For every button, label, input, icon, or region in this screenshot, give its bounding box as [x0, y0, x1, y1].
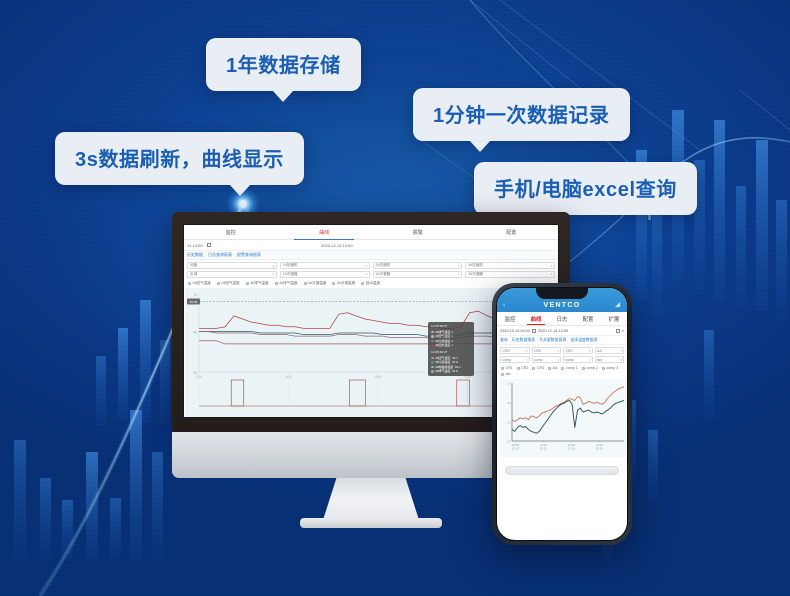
chevron-left-icon[interactable]: ‹ — [503, 302, 505, 309]
quick-link-temp-table[interactable]: 连续温度数据表 — [570, 337, 597, 343]
calendar-icon[interactable] — [207, 243, 211, 247]
quick-link-history[interactable]: 历史数据 — [187, 252, 203, 258]
x-tick-label: 12-13 — [512, 447, 520, 451]
radio-icon[interactable] — [361, 282, 364, 285]
select-compressor-2[interactable]: 2#压缩机 — [373, 262, 463, 269]
y-tick-label: 31 — [507, 382, 511, 386]
series-toggle[interactable]: AA — [548, 366, 557, 370]
phone-select-fan[interactable]: fan — [595, 356, 625, 363]
date-to-value: 2020-12-14 13:59 — [538, 329, 568, 333]
series-toggle[interactable]: CR1 — [501, 366, 513, 370]
tooltip-label: 4#回水温度 1 — [435, 343, 453, 348]
phone-tab-monitoring[interactable]: 监控 — [497, 312, 523, 325]
tooltip-row: 5#排气温度54.8 — [431, 369, 471, 374]
select-condenser-4[interactable]: 4#冷凝器 — [465, 271, 555, 278]
callout-text: 1年数据存储 — [226, 55, 341, 77]
callout-text: 手机/电脑excel查询 — [494, 179, 677, 201]
select-value: comp — [534, 358, 543, 362]
series-toggle[interactable]: comp 2 — [582, 366, 598, 370]
quick-link-log-report[interactable]: 日志查询报表 — [208, 252, 232, 258]
select-value: 4#压缩机 — [468, 263, 483, 268]
phone-tab-extension[interactable]: 扩展 — [601, 312, 627, 325]
select-value: comp — [503, 358, 512, 362]
series-label: 4#排气温度 — [279, 281, 297, 286]
tab-config[interactable]: 配置 — [465, 225, 559, 239]
select-device[interactable]: 设备 — [187, 262, 277, 269]
series-toggle[interactable]: comp 1 — [561, 366, 577, 370]
radio-icon[interactable] — [332, 282, 335, 285]
select-compressor-1[interactable]: 1#压缩机 — [280, 262, 370, 269]
phone-select-comp-1[interactable]: comp — [500, 356, 530, 363]
series-label: AA — [553, 366, 558, 370]
tab-label: 监控 — [226, 229, 236, 236]
legend-swatch — [431, 344, 434, 347]
radio-icon[interactable] — [304, 282, 307, 285]
smartphone-mockup: ‹ VENTCO 监控 曲线 日志 配置 扩展 2020-10-13 00:00… — [492, 283, 632, 545]
tab-label: 扩展 — [609, 315, 620, 323]
desktop-date-row[interactable]: 14 13:59 2020-12-14 13:59 — [184, 240, 558, 251]
phone-chart-svg[interactable]: 3130292800:0012-1312:0012-1300:0012-1412… — [500, 379, 626, 457]
series-label: comp 3 — [607, 366, 619, 370]
select-value: CR0 — [503, 349, 510, 353]
legend-swatch — [431, 340, 434, 343]
series-label: 3#排气温度 — [250, 281, 268, 286]
series-label: 2#回气温度 — [221, 281, 239, 286]
phone-select-cr0-c[interactable]: CR0 — [563, 347, 593, 354]
tab-label: 报警 — [413, 229, 423, 236]
radio-icon[interactable] — [217, 282, 220, 285]
tab-label: 曲线 — [531, 315, 542, 323]
desktop-filter-panel[interactable]: 设备 1#压缩机 2#压缩机 4#压缩机 区域 1#冷凝器 2#冷凝器 4#冷凝… — [184, 260, 558, 280]
phone-screen: ‹ VENTCO 监控 曲线 日志 配置 扩展 2020-10-13 00:00… — [496, 287, 628, 541]
calendar-icon-2[interactable] — [616, 329, 620, 333]
series-toggle[interactable]: 1#回气温度 — [188, 281, 211, 286]
phone-quick-links[interactable]: 查询 历史数据报表 开关量数据报表 连续温度数据表 — [497, 336, 627, 345]
series-toggle[interactable]: CR3 — [532, 366, 544, 370]
legend-swatch — [431, 366, 434, 369]
quick-link-history-report[interactable]: 历史数据报表 — [512, 337, 535, 343]
search-icon[interactable]: ⌕ — [622, 329, 624, 333]
select-value: CR0 — [566, 349, 573, 353]
tab-monitoring[interactable]: 监控 — [184, 225, 278, 239]
radio-icon[interactable] — [532, 367, 535, 370]
y-tick-label: 29 — [507, 420, 511, 424]
phone-tab-log[interactable]: 日志 — [549, 312, 575, 325]
chart-tooltip: 12:45:30:27 1#排气温度 1 2#回气温度 1 3#冷凝温度 1 4… — [428, 322, 474, 376]
select-value: 区域 — [190, 272, 197, 277]
series-label: CR1 — [506, 366, 513, 370]
series-label: CR3 — [537, 366, 544, 370]
series-label: 2#冷凝温度 — [337, 281, 355, 286]
brand-title: VENTCO — [544, 302, 581, 309]
desktop-quick-links[interactable]: 历史数据 日志查询报表 报警查询报表 — [184, 251, 558, 260]
callout-text: 3s数据刷新，曲线显示 — [75, 149, 284, 171]
y-tick-label: 70 — [193, 293, 197, 297]
quick-link-alarm-report[interactable]: 报警查询报表 — [237, 252, 261, 258]
tab-curve[interactable]: 曲线 — [278, 225, 372, 239]
select-condenser-1[interactable]: 1#冷凝器 — [280, 271, 370, 278]
series-toggle[interactable]: 2#回气温度 — [217, 281, 240, 286]
select-value: 2#压缩机 — [376, 263, 391, 268]
date-from-value: 2020-10-13 00:00 — [500, 329, 530, 333]
x-tick-label: 12-14 — [596, 447, 604, 451]
select-value: 4#冷凝器 — [468, 272, 483, 277]
series-label: comp 2 — [586, 366, 598, 370]
tab-label: 配置 — [583, 315, 594, 323]
select-condenser-2[interactable]: 2#冷凝器 — [373, 271, 463, 278]
select-zone[interactable]: 区域 — [187, 271, 277, 278]
y-tick-label: 28 — [507, 440, 511, 444]
radio-icon[interactable] — [582, 367, 585, 370]
horizontal-scroll-thumb[interactable] — [505, 466, 619, 475]
desktop-tab-bar[interactable]: 监控 曲线 报警 配置 — [184, 225, 558, 240]
quick-link-query[interactable]: 查询 — [500, 337, 508, 343]
filter-row[interactable]: 区域 1#冷凝器 2#冷凝器 4#冷凝器 — [187, 271, 555, 278]
tab-label: 监控 — [505, 315, 516, 323]
phone-select-cr0-a[interactable]: CR0 — [500, 347, 530, 354]
tab-label: 配置 — [506, 229, 516, 236]
date-from-value: 2020-12-14 13:59 — [321, 243, 353, 248]
legend-swatch — [431, 361, 434, 364]
tooltip-header: 12:45:30:27 — [431, 324, 471, 329]
phone-filter-row-2[interactable]: comp comp comp fan — [497, 354, 627, 363]
radio-icon[interactable] — [501, 373, 504, 376]
phone-select-comp-3[interactable]: comp — [563, 356, 593, 363]
legend-swatch — [431, 331, 434, 334]
callout-bubble-data-storage: 1年数据存储 — [206, 38, 361, 91]
phone-select-comp-2[interactable]: comp — [532, 356, 562, 363]
radio-icon[interactable] — [561, 367, 564, 370]
series-toggle[interactable]: CR2 — [517, 366, 529, 370]
calendar-icon[interactable] — [532, 329, 536, 333]
series-label: CR2 — [521, 366, 528, 370]
phone-tab-curve[interactable]: 曲线 — [523, 312, 549, 325]
callout-bubble-excel-query: 手机/电脑excel查询 — [474, 162, 697, 215]
callout-bubble-data-refresh: 3s数据刷新，曲线显示 — [55, 132, 304, 185]
radio-icon[interactable] — [188, 282, 191, 285]
select-compressor-4[interactable]: 4#压缩机 — [465, 262, 555, 269]
series-label: comp 1 — [566, 366, 578, 370]
series-toggle[interactable]: comp 3 — [602, 366, 618, 370]
tab-label: 曲线 — [319, 229, 329, 236]
y-tick-label: 30 — [507, 401, 511, 405]
phone-tab-config[interactable]: 配置 — [575, 312, 601, 325]
series-toggle[interactable]: 回水温度 — [361, 281, 380, 286]
select-value: 1#冷凝器 — [283, 272, 298, 277]
series-label: 1#回气温度 — [193, 281, 211, 286]
select-value: 1#压缩机 — [283, 263, 298, 268]
y-tick-label: 46 — [193, 330, 197, 334]
select-value: 设备 — [190, 263, 197, 268]
radio-icon[interactable] — [275, 282, 278, 285]
series-label: 回水温度 — [366, 281, 380, 286]
legend-swatch — [431, 335, 434, 338]
select-value: comp — [566, 358, 575, 362]
phone-filter-row-1[interactable]: CR0 CR0 CR0 AA — [497, 345, 627, 354]
tooltip-header-2: 12:45:30:27 — [431, 350, 471, 355]
select-value: fan — [597, 358, 602, 362]
date-short-label: 14 13:59 — [187, 243, 203, 248]
series-toggle[interactable]: 3#排气温度 — [246, 281, 269, 286]
phone-tab-bar[interactable]: 监控 曲线 日志 配置 扩展 — [497, 312, 627, 326]
quick-link-switch-report[interactable]: 开关量数据报表 — [539, 337, 566, 343]
series-label: fan — [506, 372, 511, 376]
monitor-stand-neck — [323, 478, 419, 520]
select-value: AA — [597, 349, 602, 353]
phone-notch — [536, 288, 588, 299]
radio-icon[interactable] — [548, 367, 551, 370]
phone-select-cr0-b[interactable]: CR0 — [532, 347, 562, 354]
callout-bubble-data-record: 1分钟一次数据记录 — [413, 88, 630, 141]
tab-alarm[interactable]: 报警 — [371, 225, 465, 239]
phone-select-aa[interactable]: AA — [595, 347, 625, 354]
x-tick-label: 12-14 — [568, 447, 576, 451]
select-value: CR0 — [534, 349, 541, 353]
legend-swatch — [431, 370, 434, 373]
radio-icon[interactable] — [517, 367, 520, 370]
x-tick-label: 12-13 — [540, 447, 548, 451]
radio-icon[interactable] — [602, 367, 605, 370]
series-toggle[interactable]: 1#冷凝温度 — [304, 281, 327, 286]
tab-label: 日志 — [557, 315, 568, 323]
series-toggle[interactable]: 2#冷凝温度 — [332, 281, 355, 286]
series-label: 1#冷凝温度 — [308, 281, 326, 286]
tooltip-value: 54.8 — [452, 369, 458, 374]
radio-icon[interactable] — [246, 282, 249, 285]
legend-swatch — [431, 357, 434, 360]
series-toggle[interactable]: fan — [501, 372, 511, 376]
phone-curve-chart[interactable]: 3130292800:0012-1312:0012-1300:0012-1412… — [500, 379, 624, 457]
series-toggle[interactable]: 4#排气温度 — [275, 281, 298, 286]
phone-series-toggles[interactable]: CR1 CR2 CR3 AA comp 1 comp 2 comp 3 fan — [497, 363, 627, 378]
filter-row[interactable]: 设备 1#压缩机 2#压缩机 4#压缩机 — [187, 262, 555, 269]
phone-date-range-row[interactable]: 2020-10-13 00:00 2020-12-14 13:59 ⌕ — [497, 326, 627, 336]
select-value: 2#冷凝器 — [376, 272, 391, 277]
tooltip-label: 5#排气温度 — [435, 369, 450, 374]
callout-text: 1分钟一次数据记录 — [433, 105, 610, 127]
radio-icon[interactable] — [501, 367, 504, 370]
cursor-value-badge: 65.04 — [190, 300, 198, 304]
share-icon[interactable] — [614, 301, 621, 308]
